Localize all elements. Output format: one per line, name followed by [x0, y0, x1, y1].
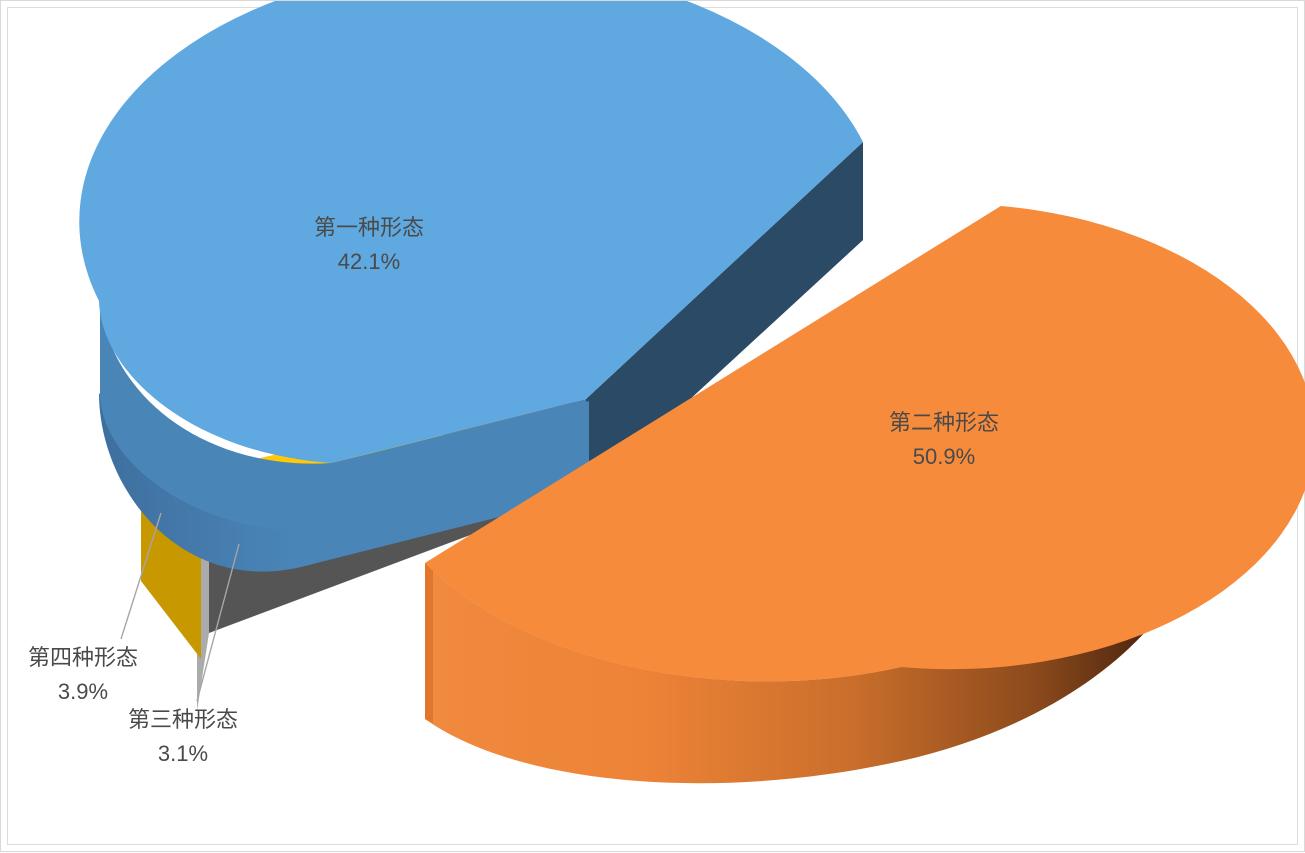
slice-2-radial-face [425, 563, 433, 723]
slice-4-label-percent: 3.9% [58, 679, 108, 704]
slice-2-label-name: 第二种形态 [889, 410, 999, 435]
slice-3-label: 第三种形态 3.1% [128, 707, 238, 766]
slice-3-label-name: 第三种形态 [128, 707, 238, 732]
slice-1-label-name: 第一种形态 [314, 215, 424, 240]
slice-2-label-percent: 50.9% [913, 444, 975, 469]
slice-4-label-name: 第四种形态 [28, 645, 138, 670]
pie-chart-3d[interactable]: 第一种形态 42.1% 第二种形态 50.9% 第三种形态 3.1% 第四种形态… [1, 1, 1305, 853]
slice-4-label: 第四种形态 3.9% [28, 645, 138, 704]
chart-page: 第一种形态 42.1% 第二种形态 50.9% 第三种形态 3.1% 第四种形态… [0, 0, 1305, 852]
slice-1-label-percent: 42.1% [338, 249, 400, 274]
slice-3-label-percent: 3.1% [158, 741, 208, 766]
